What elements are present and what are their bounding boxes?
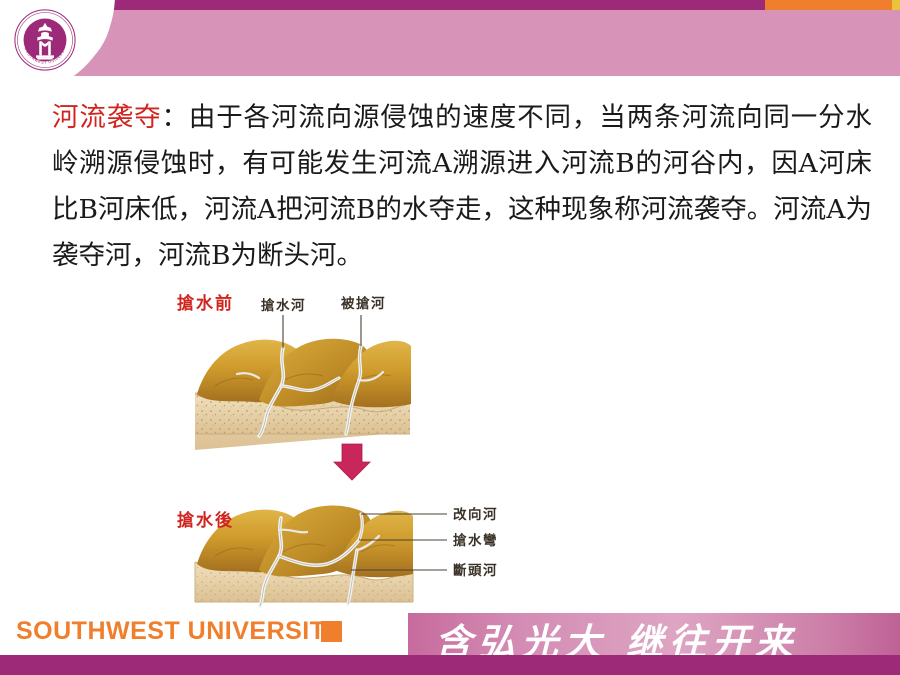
panel-before-caption: 搶水前 bbox=[177, 293, 234, 314]
label-after-beheaded-river: 斷頭河 bbox=[453, 562, 498, 579]
label-after-diverted-river: 改向河 bbox=[453, 506, 498, 523]
label-after-capture-elbow: 搶水彎 bbox=[453, 532, 498, 549]
footer-bottom-strip bbox=[0, 655, 900, 675]
header-band bbox=[0, 0, 900, 76]
panel-after-caption: 搶水後 bbox=[177, 510, 234, 531]
term-colon: ： bbox=[161, 102, 188, 133]
diagram-panel-after: 搶水後 改向河 搶水彎 斷頭河 bbox=[177, 506, 498, 606]
river-capture-diagram: 搶水前 搶水河 被搶河 bbox=[155, 282, 555, 612]
key-term: 河流袭夺 bbox=[52, 102, 161, 133]
diagram-panel-before: 搶水前 搶水河 被搶河 bbox=[177, 293, 411, 450]
transition-arrow-icon bbox=[334, 444, 370, 480]
slide-body-text: 河流袭夺：由于各河流向源侵蚀的速度不同，当两条河流向同一分水岭溯源侵蚀时，有可能… bbox=[52, 95, 872, 279]
university-seal-icon: SOUTHWEST UNIVERSITY bbox=[13, 8, 77, 72]
footer-university-name: SOUTHWEST UNIVERSITY bbox=[16, 617, 343, 646]
slide-canvas: SOUTHWEST UNIVERSITY 河流袭夺：由于各河流向源侵蚀的速度不同… bbox=[0, 0, 900, 675]
label-before-captured-river: 被搶河 bbox=[341, 295, 386, 312]
header-top-stripe-accent bbox=[765, 0, 892, 10]
label-before-capturing-river: 搶水河 bbox=[261, 297, 306, 314]
footer-accent-square-icon bbox=[321, 621, 342, 642]
header-top-stripe-accent-end bbox=[892, 0, 900, 10]
